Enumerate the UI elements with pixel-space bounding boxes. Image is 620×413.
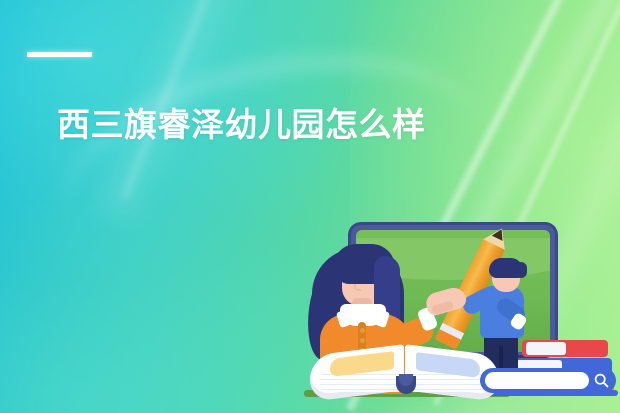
open-book xyxy=(310,350,500,398)
teacher-nose xyxy=(354,284,361,291)
page-root: 西三旗睿泽幼儿园怎么样 xyxy=(0,0,620,413)
search-input[interactable] xyxy=(485,372,589,389)
child-hair xyxy=(489,258,523,278)
search-icon[interactable] xyxy=(593,372,610,389)
book-red xyxy=(522,340,608,357)
search-bar[interactable] xyxy=(480,368,616,393)
education-illustration xyxy=(300,210,620,413)
book-pages xyxy=(526,342,566,355)
title-underline-rule xyxy=(27,52,92,57)
teacher-button xyxy=(360,328,365,333)
page-title: 西三旗睿泽幼儿园怎么样 xyxy=(57,104,426,146)
teacher-button xyxy=(360,338,365,343)
